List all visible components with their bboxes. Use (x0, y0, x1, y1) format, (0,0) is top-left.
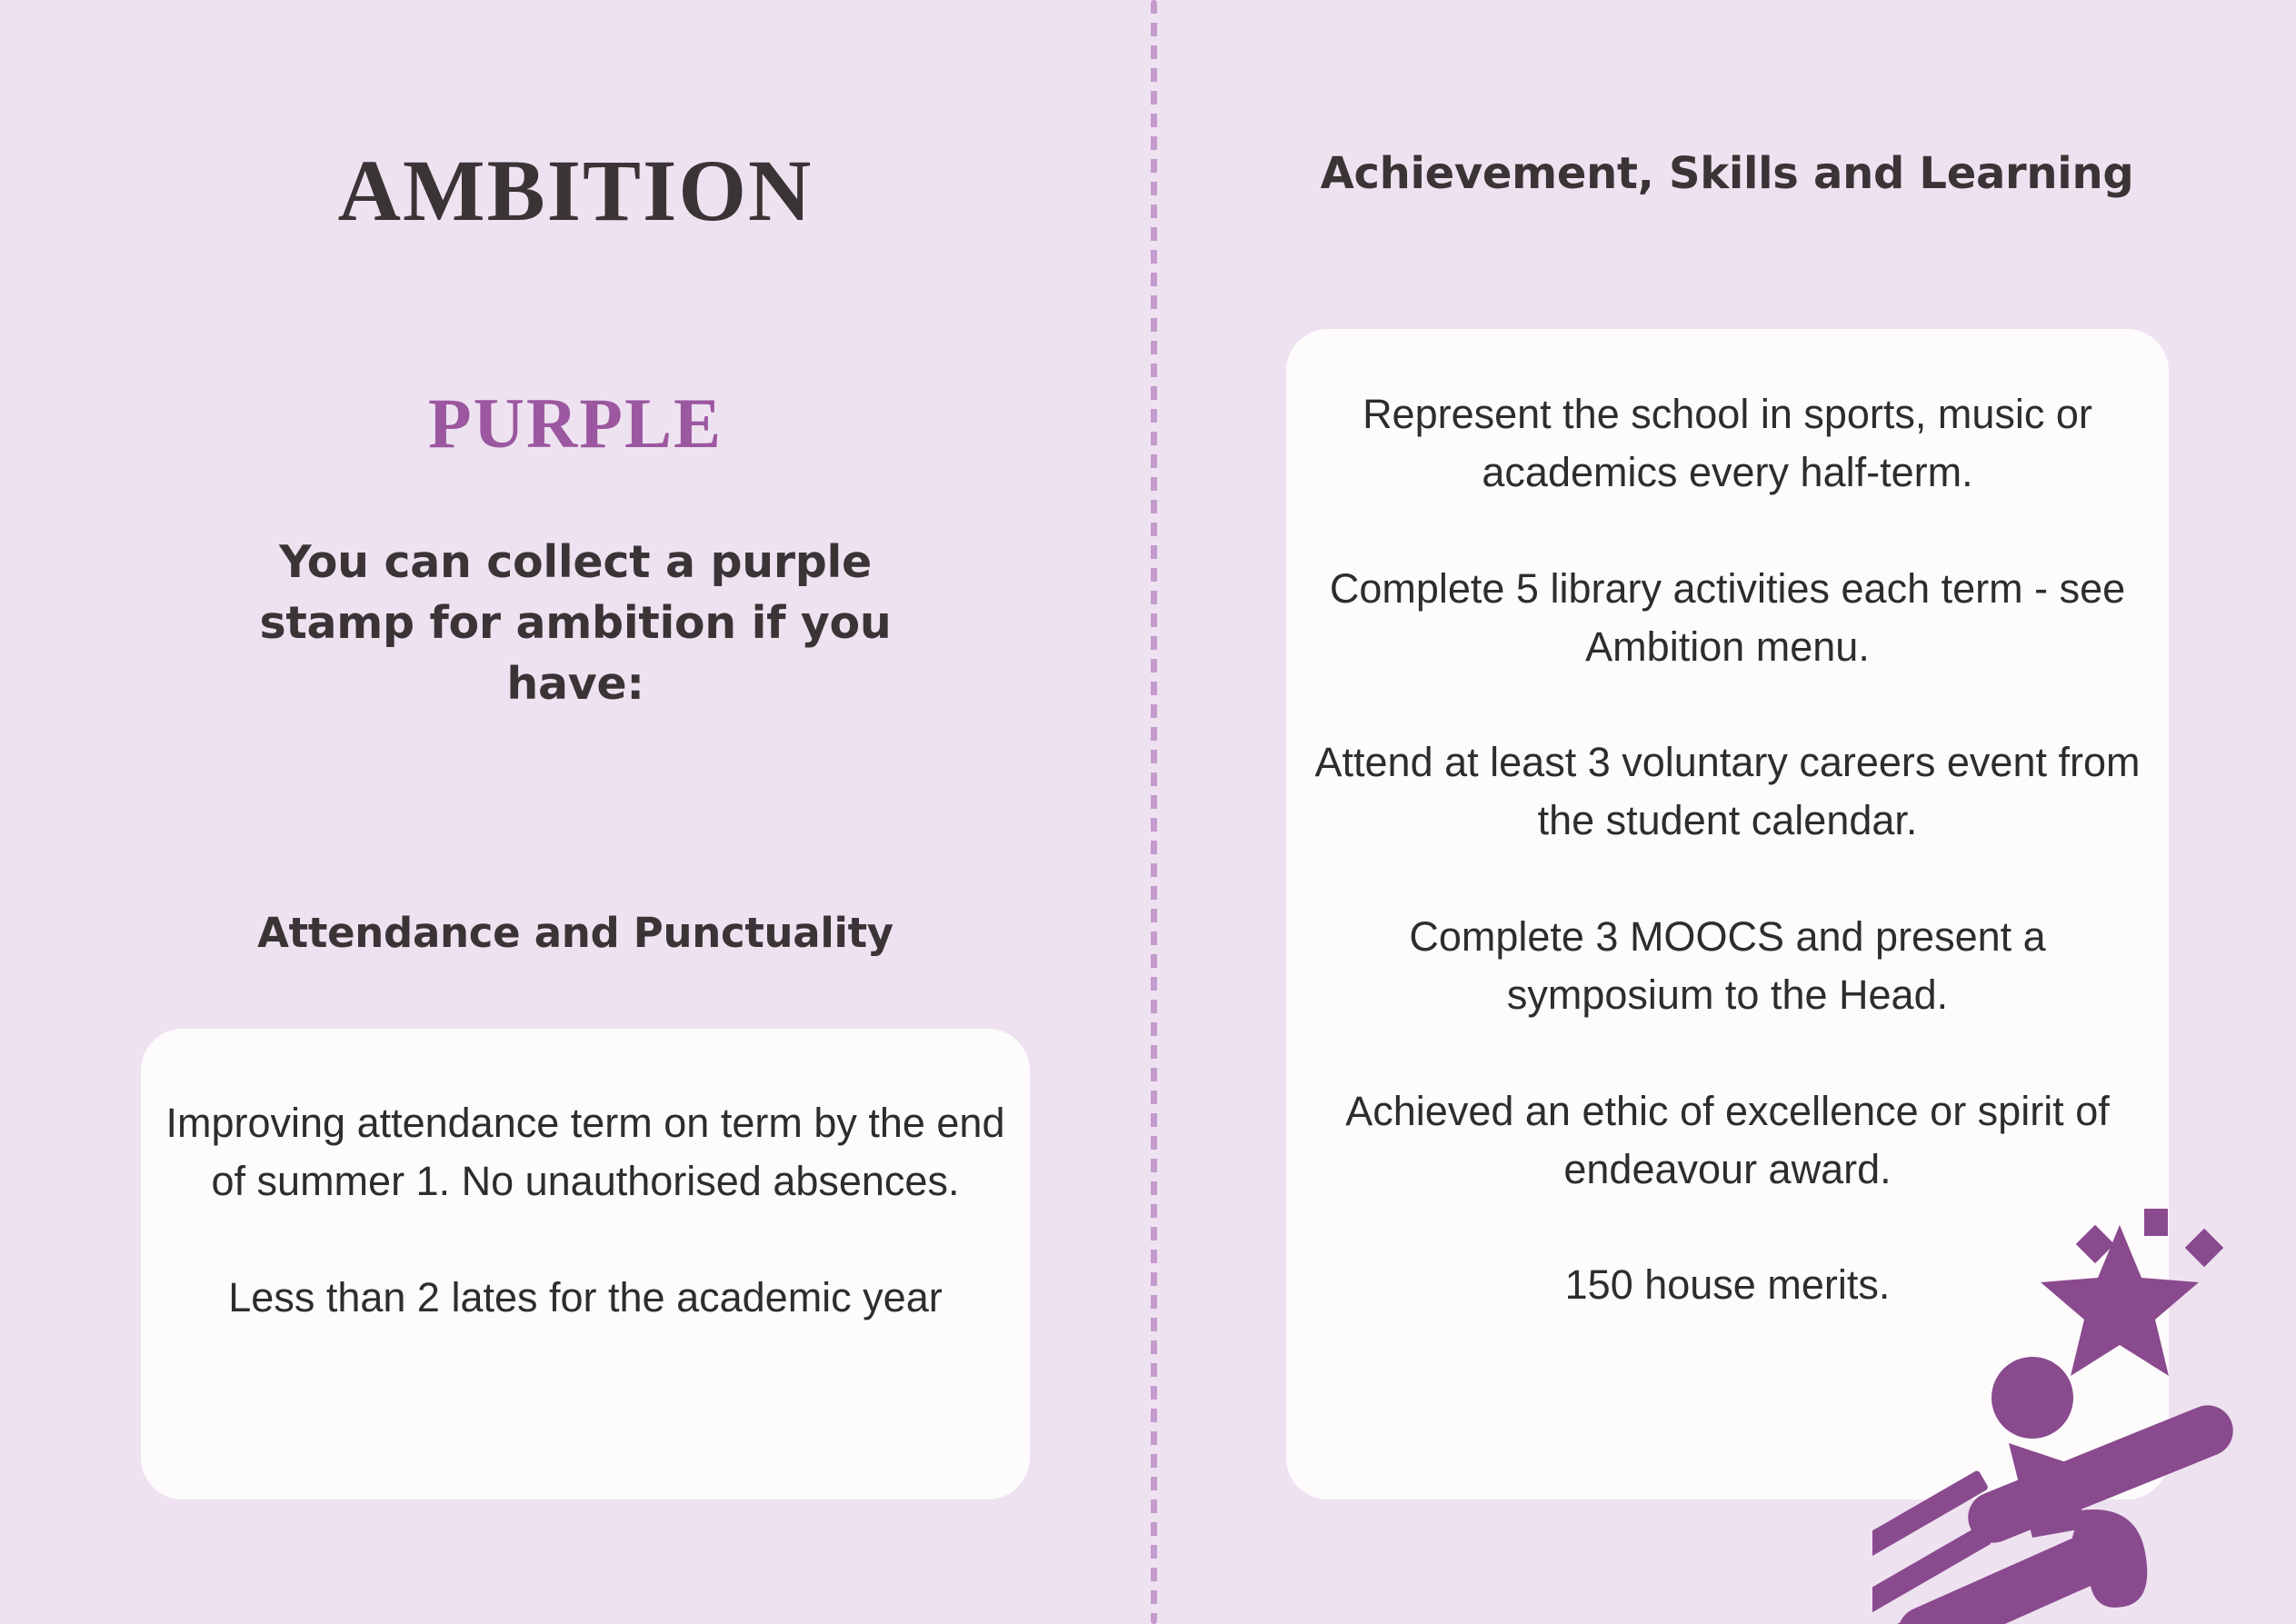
colour-word-heading: PURPLE (0, 386, 1151, 461)
achievement-criteria-card: Represent the school in sports, music or… (1286, 329, 2169, 1499)
intro-text: You can collect a purple stamp for ambit… (221, 532, 930, 714)
list-item: Complete 5 library activities each term … (1308, 560, 2147, 676)
list-item: Complete 3 MOOCS and present a symposium… (1308, 908, 2147, 1024)
list-item: 150 house merits. (1308, 1256, 2147, 1314)
attendance-criteria-list: Improving attendance term on term by the… (163, 1094, 1008, 1327)
list-item: Represent the school in sports, music or… (1308, 385, 2147, 502)
page-title: AMBITION (0, 145, 1151, 237)
list-item: Achieved an ethic of excellence or spiri… (1308, 1082, 2147, 1199)
attendance-criteria-card: Improving attendance term on term by the… (141, 1029, 1030, 1499)
list-item: Improving attendance term on term by the… (163, 1094, 1008, 1211)
poster-page: AMBITION PURPLE You can collect a purple… (0, 0, 2296, 1624)
achievement-criteria-list: Represent the school in sports, music or… (1308, 385, 2147, 1314)
section-heading-achievement: Achievement, Skills and Learning (1227, 145, 2227, 203)
list-item: Attend at least 3 voluntary careers even… (1308, 733, 2147, 850)
section-heading-attendance: Attendance and Punctuality (121, 909, 1030, 957)
left-column: AMBITION PURPLE You can collect a purple… (0, 0, 1151, 1624)
list-item: Less than 2 lates for the academic year (163, 1269, 1008, 1327)
vertical-dashed-divider (1151, 0, 1157, 1624)
